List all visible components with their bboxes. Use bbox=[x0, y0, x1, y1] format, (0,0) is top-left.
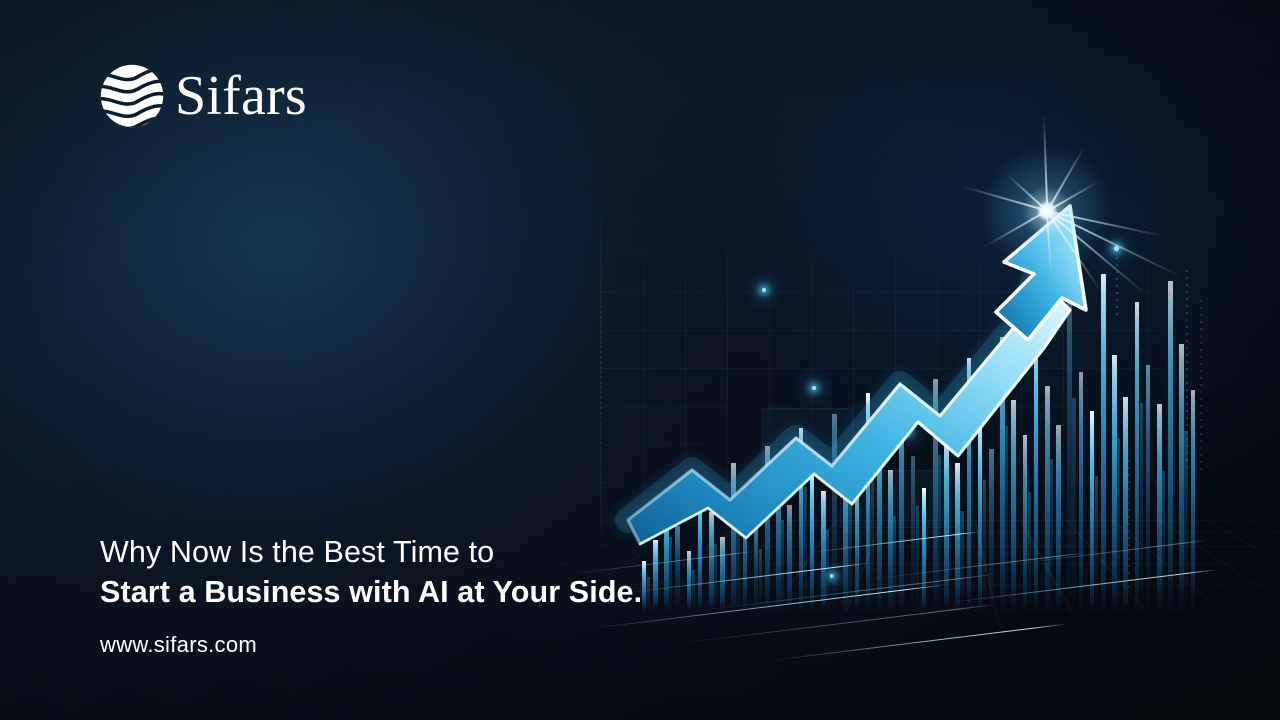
website-url[interactable]: www.sifars.com bbox=[100, 632, 800, 658]
bar-chart-bar bbox=[1135, 302, 1140, 610]
bar-chart-bar bbox=[1146, 365, 1151, 610]
bar-chart-bar bbox=[1168, 281, 1173, 610]
brand-logo[interactable]: Sifars bbox=[98, 62, 307, 130]
copy-block: Why Now Is the Best Time to Start a Busi… bbox=[100, 532, 800, 658]
tick-column bbox=[1200, 300, 1202, 470]
headline-line-1: Why Now Is the Best Time to bbox=[100, 532, 800, 572]
globe-wave-icon bbox=[98, 62, 166, 130]
headline-line-2: Start a Business with AI at Your Side. bbox=[100, 572, 800, 612]
upward-trend-arrow-icon bbox=[600, 170, 1100, 560]
bar-chart-bar-back bbox=[1184, 431, 1187, 610]
bar-chart-bar-back bbox=[1162, 471, 1165, 610]
banner-canvas: Sifars Why Now Is the Best Time to Start… bbox=[0, 0, 1280, 720]
bar-chart-bar bbox=[1191, 390, 1196, 610]
brand-name: Sifars bbox=[175, 68, 307, 124]
bar-chart-bar bbox=[1157, 404, 1162, 610]
